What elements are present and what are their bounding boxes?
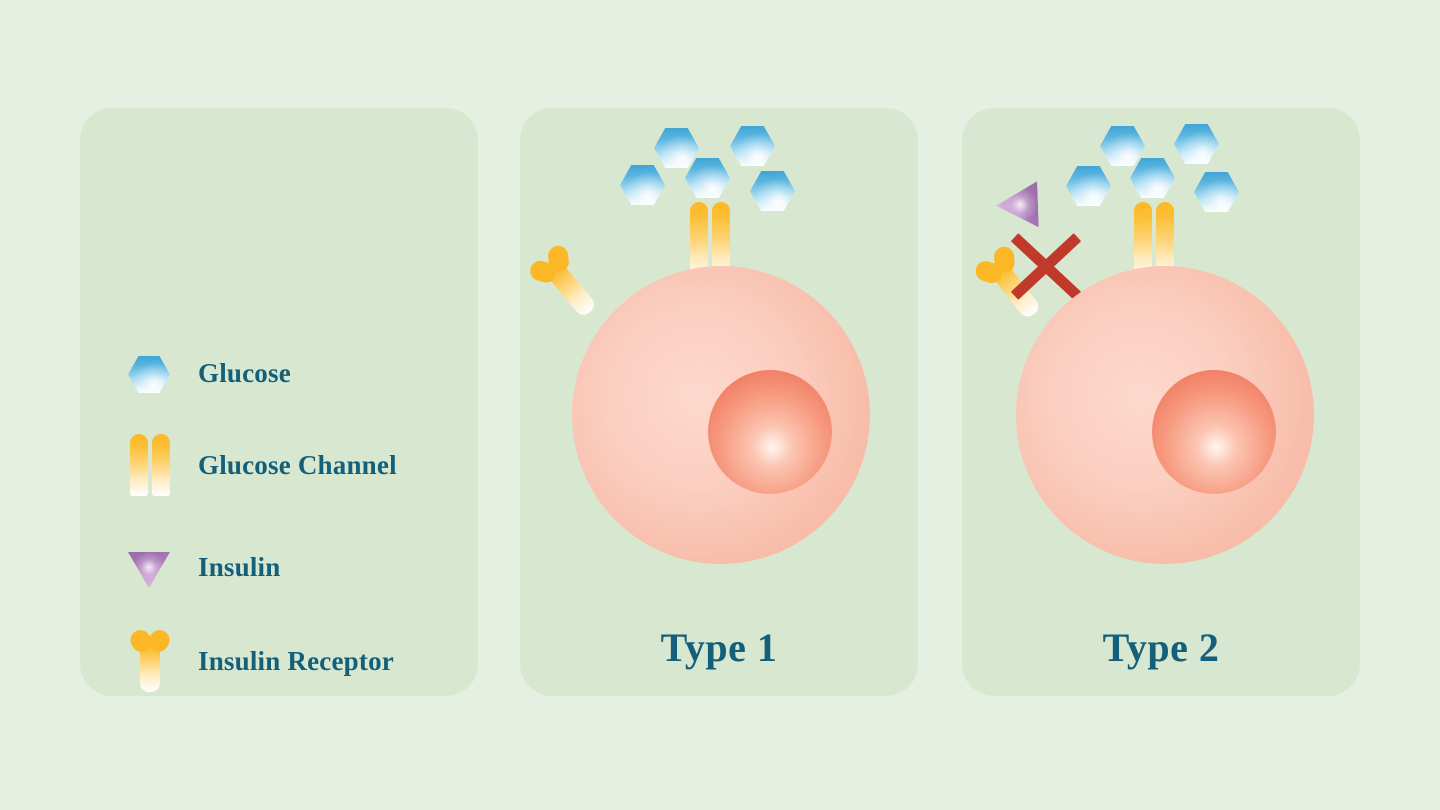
legend-item-glucose: Glucose bbox=[124, 338, 291, 408]
glucose-hexagon-icon bbox=[1100, 126, 1145, 166]
insulin-triangle-icon bbox=[124, 532, 198, 602]
legend-label-glucose-channel: Glucose Channel bbox=[198, 450, 397, 481]
cell-body bbox=[1016, 266, 1314, 564]
glucose-hexagon-icon bbox=[1194, 172, 1239, 212]
glucose-hexagon-icon bbox=[1066, 166, 1111, 206]
panel-caption-type2: Type 2 bbox=[962, 624, 1360, 671]
cell-body bbox=[572, 266, 870, 564]
diagram-canvas: Glucose Glucose Channel Insulin bbox=[0, 0, 1440, 810]
glucose-hexagon-icon bbox=[1174, 124, 1219, 164]
legend-item-insulin-receptor: Insulin Receptor bbox=[124, 626, 394, 696]
type2-panel: Type 2 bbox=[962, 108, 1360, 696]
glucose-hexagon-icon bbox=[620, 165, 665, 205]
legend-label-insulin-receptor: Insulin Receptor bbox=[198, 646, 394, 677]
legend-label-insulin: Insulin bbox=[198, 552, 280, 583]
legend-label-glucose: Glucose bbox=[198, 358, 291, 389]
legend-panel: Glucose Glucose Channel Insulin bbox=[80, 108, 478, 696]
glucose-channel-icon bbox=[124, 430, 198, 500]
glucose-hexagon-icon bbox=[750, 171, 795, 211]
legend-item-glucose-channel: Glucose Channel bbox=[124, 430, 397, 500]
glucose-hexagon-icon bbox=[685, 158, 730, 198]
glucose-hexagon-icon bbox=[124, 338, 198, 408]
type1-panel: Type 1 bbox=[520, 108, 918, 696]
insulin-receptor-icon bbox=[524, 240, 607, 327]
panel-caption-type1: Type 1 bbox=[520, 624, 918, 671]
glucose-hexagon-icon bbox=[1130, 158, 1175, 198]
cell-nucleus bbox=[708, 370, 832, 494]
insulin-receptor-icon bbox=[124, 626, 198, 696]
glucose-hexagon-icon bbox=[730, 126, 775, 166]
glucose-hexagon-icon bbox=[654, 128, 699, 168]
legend-item-insulin: Insulin bbox=[124, 532, 280, 602]
cell-nucleus bbox=[1152, 370, 1276, 494]
